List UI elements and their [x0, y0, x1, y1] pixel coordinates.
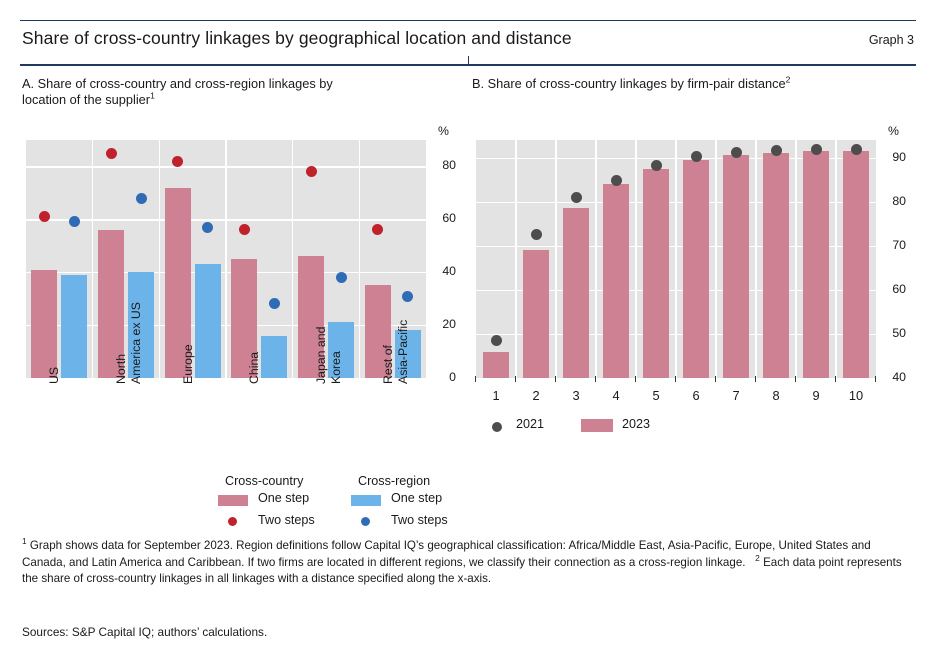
x-axis-tick — [795, 376, 796, 382]
bar — [61, 275, 87, 378]
top-rule — [20, 20, 916, 21]
x-axis-tick — [755, 376, 756, 382]
panel-a-subtitle-line2: location of the supplier — [22, 92, 150, 107]
bar — [643, 169, 669, 378]
data-point-marker — [611, 175, 622, 186]
data-point-marker — [306, 166, 317, 177]
bar — [195, 264, 221, 378]
panel-a-subtitle: A. Share of cross-country and cross-regi… — [22, 76, 452, 108]
category-separator — [835, 140, 837, 378]
category-separator — [225, 140, 227, 378]
x-axis-tick — [715, 376, 716, 382]
data-point-marker — [731, 147, 742, 158]
x-axis-tick — [515, 376, 516, 382]
data-point-marker — [531, 229, 542, 240]
legend-a-group2-title: Cross-region — [358, 474, 430, 488]
data-point-marker — [239, 224, 250, 235]
y-axis-tick-label: 60 — [420, 211, 456, 225]
data-point-marker — [372, 224, 383, 235]
y-axis-tick-label: 50 — [870, 326, 906, 340]
page-title: Share of cross-country linkages by geogr… — [22, 28, 572, 49]
y-axis-tick-label: 80 — [420, 158, 456, 172]
x-axis-tick-label: Asia-Pacific — [396, 320, 411, 384]
legend-a-cross-region-bar-swatch — [351, 495, 381, 506]
category-separator — [795, 140, 797, 378]
y-axis-tick-label: 80 — [870, 194, 906, 208]
legend-a-cross-region-bar-label: One step — [391, 491, 442, 505]
category-separator — [159, 140, 161, 378]
data-point-marker — [202, 222, 213, 233]
y-axis-tick-label: 60 — [870, 282, 906, 296]
data-point-marker — [269, 298, 280, 309]
x-axis-tick — [635, 376, 636, 382]
category-separator — [675, 140, 677, 378]
category-separator — [635, 140, 637, 378]
data-point-marker — [106, 148, 117, 159]
x-axis-tick-label: Rest of — [381, 345, 396, 384]
panel-b-unit-label: % — [888, 124, 899, 138]
legend-a-group1-title: Cross-country — [225, 474, 303, 488]
footnote-1-text: Graph shows data for September 2023. Reg… — [22, 539, 871, 569]
data-point-marker — [69, 216, 80, 227]
graph-number: Graph 3 — [869, 33, 914, 47]
legend-a-cross-country-dot-label: Two steps — [258, 513, 315, 527]
data-point-marker — [811, 144, 822, 155]
gridline — [26, 378, 426, 379]
panel-a-subtitle-line1: A. Share of cross-country and cross-regi… — [22, 76, 333, 91]
data-point-marker — [491, 335, 502, 346]
x-axis-tick — [595, 376, 596, 382]
sources-line: Sources: S&P Capital IQ; authors’ calcul… — [22, 625, 267, 639]
panel-a-footnote-marker: 1 — [150, 91, 155, 101]
panel-b-subtitle: B. Share of cross-country linkages by fi… — [472, 76, 912, 92]
x-axis-tick-label: 10 — [836, 388, 876, 403]
data-point-marker — [172, 156, 183, 167]
data-point-marker — [336, 272, 347, 283]
x-axis-tick-label: 4 — [596, 388, 636, 403]
y-axis-tick-label: 70 — [870, 238, 906, 252]
panel-a-unit-label: % — [438, 124, 449, 138]
footnote-1-marker: 1 — [22, 536, 27, 546]
bar — [563, 208, 589, 378]
x-axis-tick-label: 8 — [756, 388, 796, 403]
x-axis-tick-label: Korea — [329, 351, 344, 384]
x-axis-tick-label: North — [114, 354, 129, 384]
bar — [483, 352, 509, 378]
header-center-tick — [468, 56, 469, 64]
y-axis-tick-label: 90 — [870, 150, 906, 164]
y-axis-tick-label: 0 — [420, 370, 456, 384]
bar — [523, 250, 549, 378]
bar — [763, 153, 789, 378]
x-axis-tick-label: 2 — [516, 388, 556, 403]
data-point-marker — [571, 192, 582, 203]
legend-b-2023-label: 2023 — [622, 417, 650, 431]
legend-a-cross-country-bar-label: One step — [258, 491, 309, 505]
x-axis-tick-label: 3 — [556, 388, 596, 403]
y-axis-tick-label: 20 — [420, 317, 456, 331]
category-separator — [715, 140, 717, 378]
category-separator — [292, 140, 294, 378]
legend-a-cross-region-dot-label: Two steps — [391, 513, 448, 527]
bar — [31, 270, 57, 378]
x-axis-tick — [875, 376, 876, 382]
panel-b-footnote-marker: 2 — [786, 75, 791, 85]
data-point-marker — [691, 151, 702, 162]
bar — [603, 184, 629, 378]
footnote-2-marker: 2 — [755, 553, 760, 563]
data-point-marker — [651, 160, 662, 171]
legend-b-2023-bar-swatch — [581, 419, 613, 432]
data-point-marker — [851, 144, 862, 155]
legend-b-2021-dot-swatch — [492, 422, 502, 432]
bar — [843, 151, 869, 378]
category-separator — [755, 140, 757, 378]
data-point-marker — [39, 211, 50, 222]
category-separator — [92, 140, 94, 378]
x-axis-tick — [555, 376, 556, 382]
x-axis-tick-label: 6 — [676, 388, 716, 403]
panel-a-plot-area — [26, 140, 426, 378]
data-point-marker — [402, 291, 413, 302]
data-point-marker — [136, 193, 147, 204]
legend-a-cross-country-dot-swatch — [228, 517, 237, 526]
category-separator — [359, 140, 361, 378]
x-axis-tick-label: Europe — [181, 344, 196, 384]
bar — [261, 336, 287, 378]
category-separator — [595, 140, 597, 378]
panel-b-subtitle-text: B. Share of cross-country linkages by fi… — [472, 76, 786, 91]
x-axis-tick-label: 5 — [636, 388, 676, 403]
legend-b-2021-label: 2021 — [516, 417, 544, 431]
panel-b-plot-area — [476, 140, 876, 378]
x-axis-tick-label: 7 — [716, 388, 756, 403]
data-point-marker — [771, 145, 782, 156]
header-rule — [20, 64, 916, 66]
legend-a-cross-country-bar-swatch — [218, 495, 248, 506]
x-axis-tick — [675, 376, 676, 382]
x-axis-tick-label: US — [47, 367, 62, 384]
category-separator — [555, 140, 557, 378]
footnotes: 1 Graph shows data for September 2023. R… — [22, 538, 902, 588]
bar — [723, 155, 749, 378]
x-axis-tick — [835, 376, 836, 382]
x-axis-tick-label: 9 — [796, 388, 836, 403]
bar — [683, 160, 709, 378]
category-separator — [515, 140, 517, 378]
x-axis-tick-label: China — [247, 352, 262, 384]
graph-page: Share of cross-country linkages by geogr… — [0, 0, 936, 656]
legend-a-cross-region-dot-swatch — [361, 517, 370, 526]
y-axis-tick-label: 40 — [420, 264, 456, 278]
bar — [803, 151, 829, 378]
x-axis-tick-label: America ex US — [129, 302, 144, 384]
x-axis-tick-label: 1 — [476, 388, 516, 403]
x-axis-tick-label: Japan and — [314, 327, 329, 384]
x-axis-tick — [475, 376, 476, 382]
